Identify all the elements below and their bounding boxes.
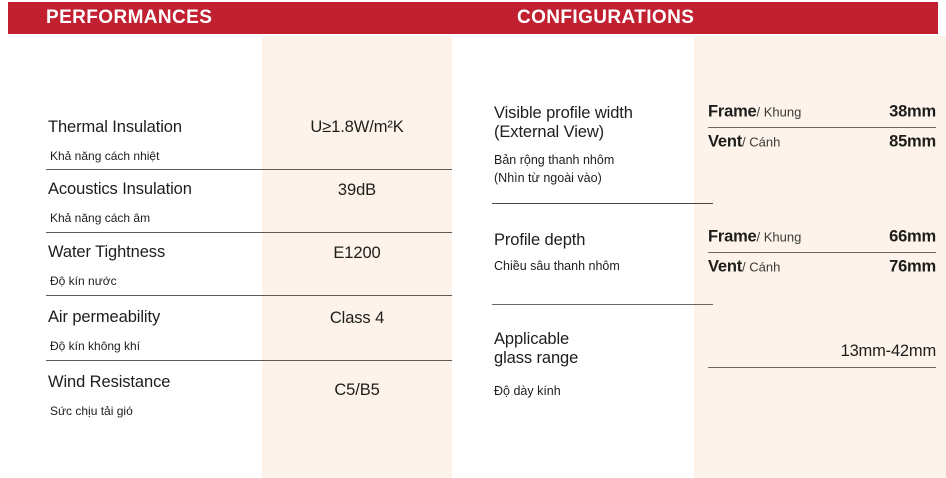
value-divider — [708, 367, 936, 368]
performances-section-title: PERFORMANCES — [46, 7, 212, 29]
performance-label-vi: Độ kín không khí — [50, 339, 140, 353]
configuration-value: 76mm — [889, 258, 936, 277]
row-divider — [46, 169, 452, 170]
configuration-value-key-main: Frame — [708, 228, 757, 246]
configuration-label-en-line2: (External View) — [494, 123, 604, 142]
performance-label-vi: Độ kín nước — [50, 274, 117, 288]
configuration-value-row: Vent/ Cánh 76mm — [708, 252, 946, 282]
configuration-value-key: Frame/ Khung — [708, 103, 801, 122]
configuration-value-key-main: Vent — [708, 258, 742, 276]
row-divider — [46, 295, 452, 296]
row-divider — [46, 360, 452, 361]
performance-label-en: Air permeability — [48, 308, 160, 327]
configurations-section-title: CONFIGURATIONS — [517, 7, 694, 29]
configuration-label-en-line2: glass range — [494, 349, 578, 368]
configuration-value-block: Frame/ Khung 38mm Vent/ Cánh 85mm — [708, 97, 946, 157]
configuration-value: 85mm — [889, 133, 936, 152]
performance-label-en: Thermal Insulation — [48, 118, 182, 137]
performance-value: C5/B5 — [262, 381, 452, 400]
configuration-value: 66mm — [889, 228, 936, 247]
configuration-value-key: Vent/ Cánh — [708, 258, 780, 277]
configuration-value-key: Frame/ Khung — [708, 228, 801, 247]
configuration-label-en-line1: Applicable — [494, 330, 569, 349]
performance-label-en: Wind Resistance — [48, 373, 170, 392]
performance-label-vi: Sức chịu tải gió — [50, 404, 133, 418]
configuration-value-key-sub: / Khung — [757, 105, 802, 120]
configuration-label-en-line1: Visible profile width — [494, 104, 633, 123]
performance-value: U≥1.8W/m²K — [262, 118, 452, 137]
configuration-value-key: Vent/ Cánh — [708, 133, 780, 152]
configuration-value-row: Vent/ Cánh 85mm — [708, 127, 946, 157]
configuration-value-row: Frame/ Khung 38mm — [708, 97, 946, 127]
configuration-label-vi-line1: Độ dày kính — [494, 383, 561, 400]
configurations-table: Visible profile width (External View) Bả… — [473, 36, 946, 478]
configuration-label-vi-line2: (Nhìn từ ngoài vào) — [494, 170, 602, 187]
spec-sheet-page: PERFORMANCES CONFIGURATIONS Thermal Insu… — [0, 0, 946, 478]
performance-label-en: Acoustics Insulation — [48, 180, 192, 199]
row-divider — [492, 304, 713, 305]
section-header-band: PERFORMANCES CONFIGURATIONS — [8, 2, 938, 34]
configuration-value-key-sub: / Cánh — [742, 135, 780, 150]
configuration-value-block: Frame/ Khung 66mm Vent/ Cánh 76mm — [708, 222, 946, 282]
configuration-value-row: Frame/ Khung 66mm — [708, 222, 946, 252]
configuration-value: 13mm-42mm — [841, 342, 936, 361]
configuration-value-key-main: Vent — [708, 133, 742, 151]
performance-value: E1200 — [262, 244, 452, 263]
configuration-value-key-main: Frame — [708, 103, 757, 121]
row-divider — [492, 203, 713, 204]
configuration-value-key-sub: / Khung — [757, 230, 802, 245]
performance-label-vi: Khả năng cách nhiệt — [50, 149, 159, 163]
configuration-value-key-sub: / Cánh — [742, 260, 780, 275]
configuration-label-vi-line1: Chiều sâu thanh nhôm — [494, 258, 620, 275]
row-divider — [46, 232, 452, 233]
configuration-label-vi-line1: Bản rộng thanh nhôm — [494, 152, 614, 169]
performance-label-vi: Khả năng cách âm — [50, 211, 150, 225]
performance-value: Class 4 — [262, 309, 452, 328]
performances-table: Thermal Insulation Khả năng cách nhiệt U… — [0, 36, 473, 478]
configuration-label-en-line1: Profile depth — [494, 231, 585, 250]
performance-label-en: Water Tightness — [48, 243, 165, 262]
configuration-value: 38mm — [889, 103, 936, 122]
performance-value: 39dB — [262, 181, 452, 200]
